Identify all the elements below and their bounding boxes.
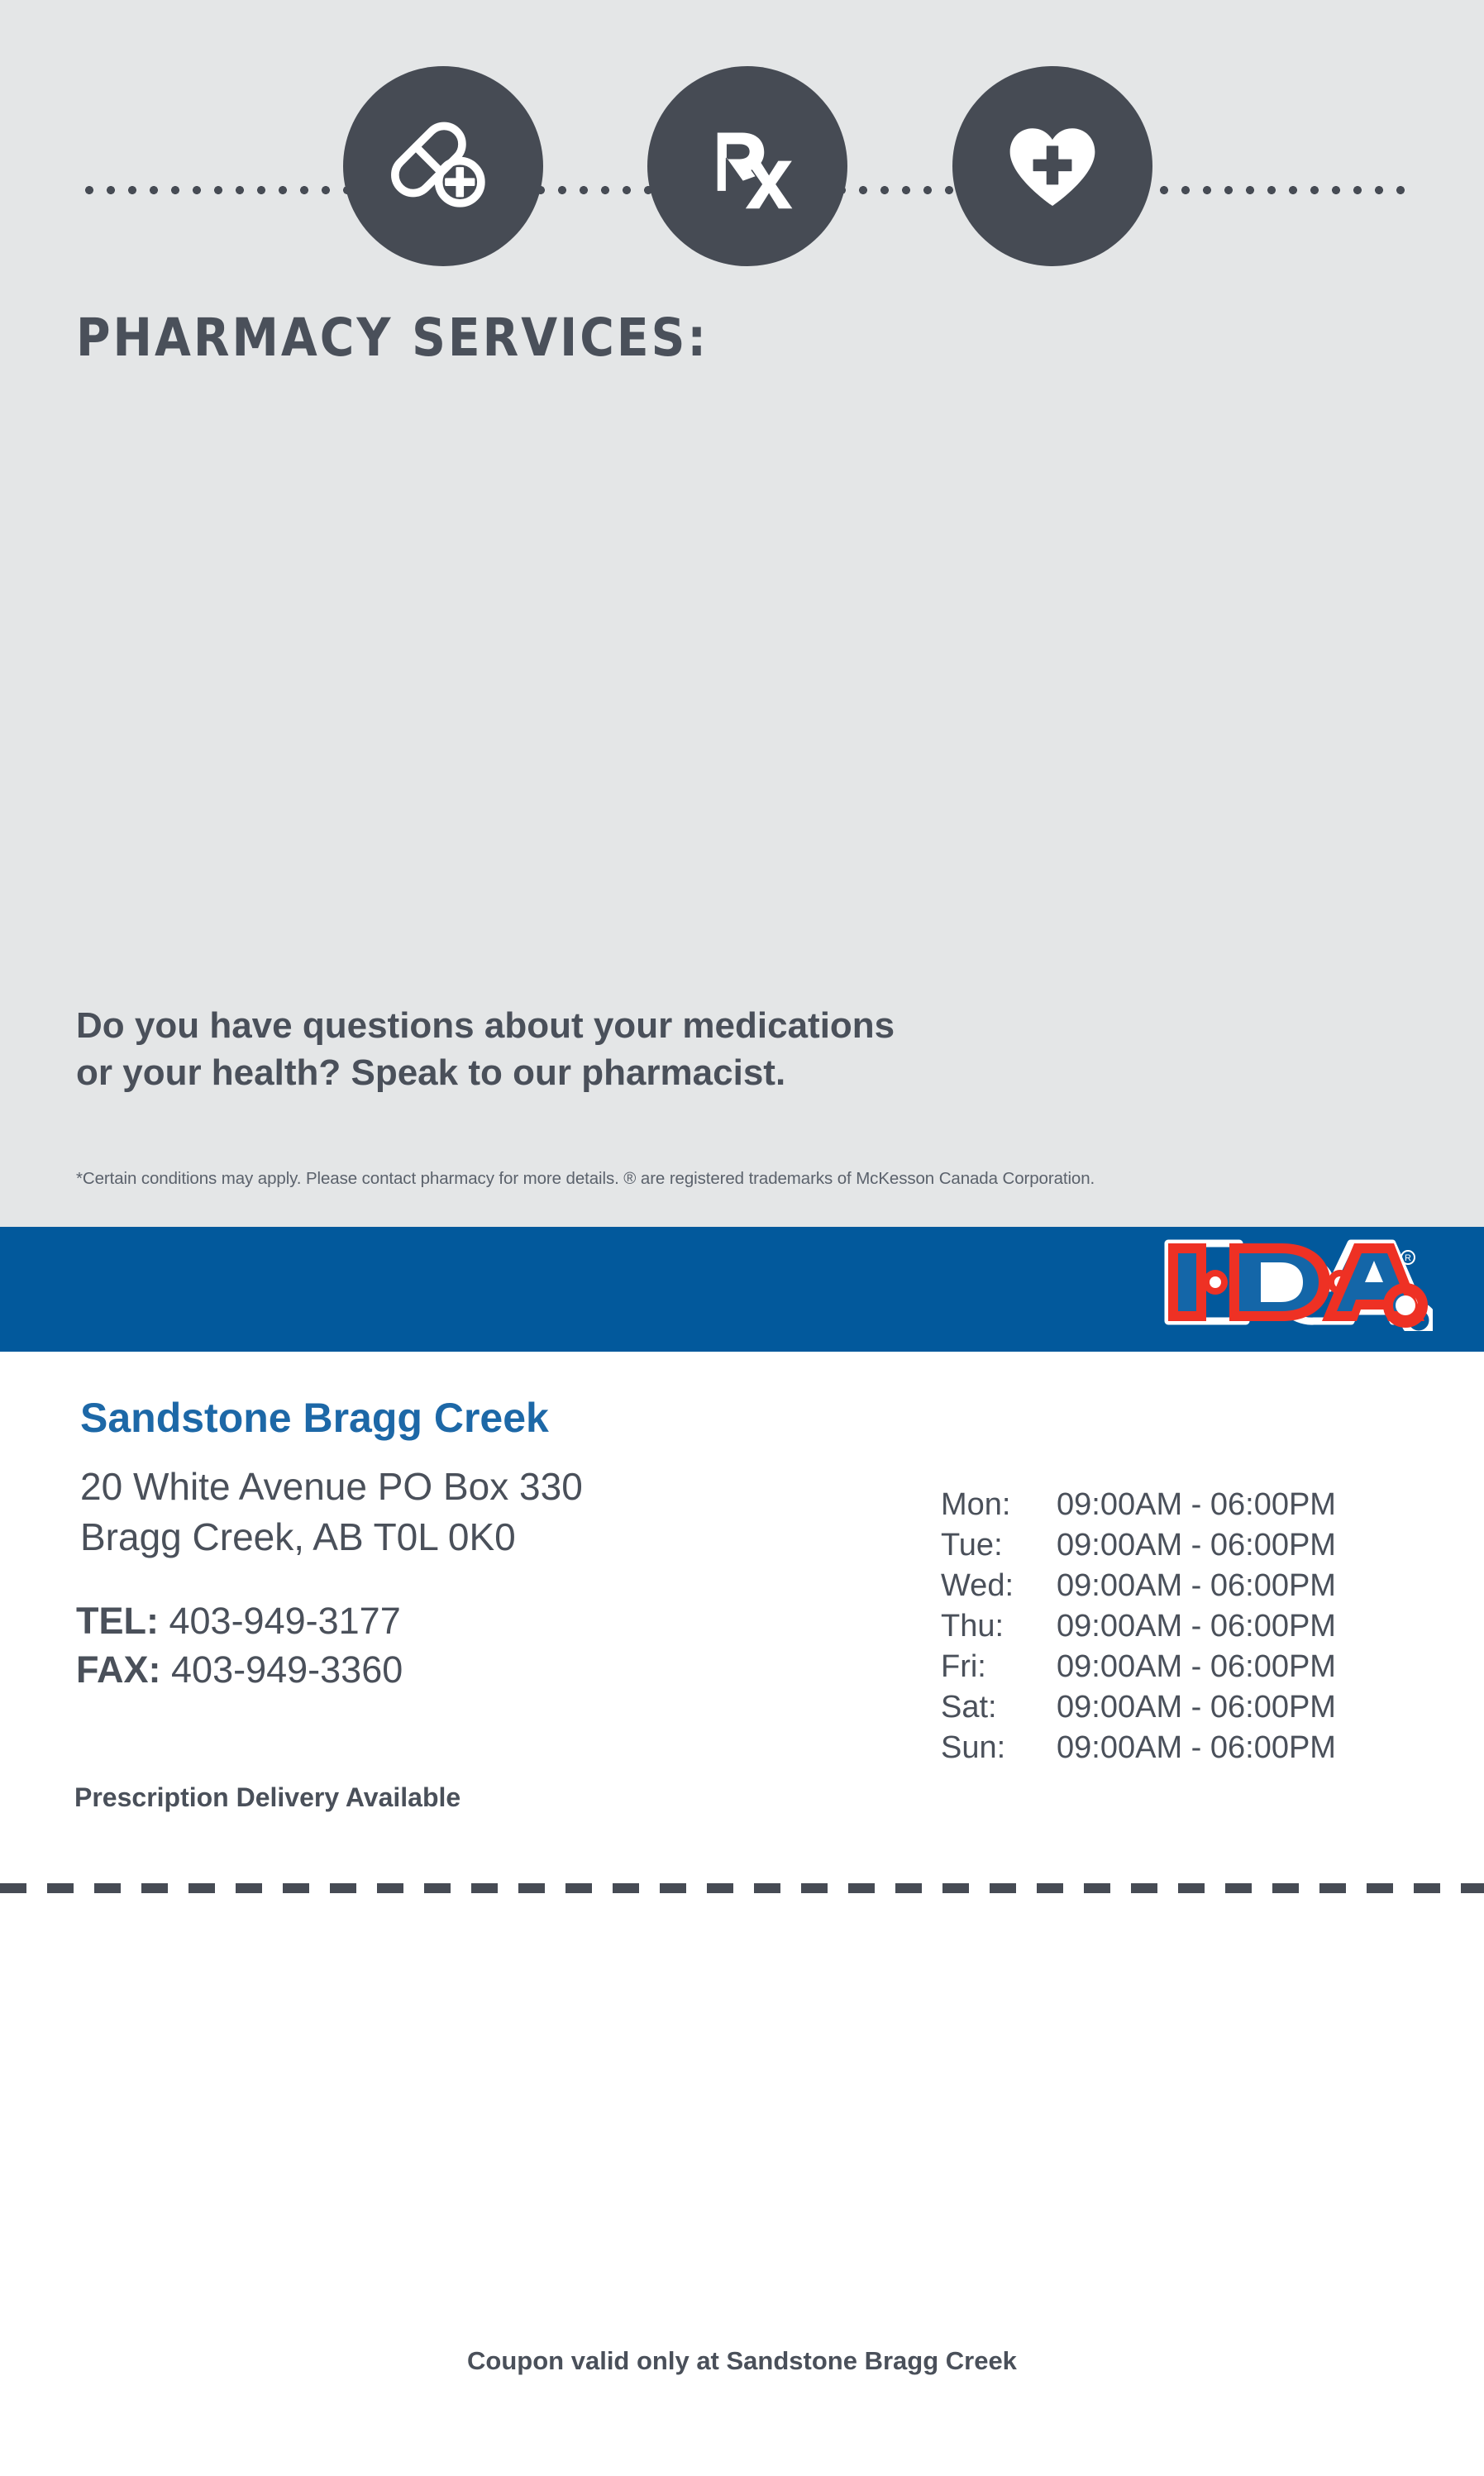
coupon-cut-line [0, 1883, 1484, 1893]
pharmacist-prompt-line-2: or your health? Speak to our pharmacist. [76, 1049, 1233, 1096]
delivery-note: Prescription Delivery Available [74, 1782, 460, 1813]
coupon-validity-note: Coupon valid only at Sandstone Bragg Cre… [0, 2346, 1484, 2376]
rx-icon [647, 66, 847, 266]
hours-day-label: Mon: [941, 1485, 1057, 1525]
address-line-2: Bragg Creek, AB T0L 0K0 [80, 1512, 583, 1562]
pills-plus-icon [343, 66, 543, 266]
services-list [76, 397, 1407, 926]
icon-row [343, 66, 1153, 266]
heart-plus-icon [952, 66, 1152, 266]
hours-day-label: Sun: [941, 1728, 1057, 1768]
hours-day-label: Sat: [941, 1687, 1057, 1728]
hours-row: Fri: 09:00AM - 06:00PM [941, 1647, 1336, 1687]
hours-row: Tue: 09:00AM - 06:00PM [941, 1525, 1336, 1566]
fax-row: FAX: 403-949-3360 [76, 1645, 403, 1694]
hours-day-label: Fri: [941, 1647, 1057, 1687]
page-title: PHARMACY SERVICES: [76, 308, 709, 368]
hours-row: Wed: 09:00AM - 06:00PM [941, 1566, 1336, 1606]
pharmacist-prompt-line-1: Do you have questions about your medicat… [76, 1002, 1233, 1049]
store-name: Sandstone Bragg Creek [80, 1394, 549, 1442]
coupon-area [0, 1893, 1484, 2476]
hours-time-value: 09:00AM - 06:00PM [1057, 1687, 1336, 1728]
telephone-value: 403-949-3177 [169, 1600, 400, 1642]
hours-time-value: 09:00AM - 06:00PM [1057, 1647, 1336, 1687]
hours-time-value: 09:00AM - 06:00PM [1057, 1728, 1336, 1768]
telephone-row: TEL: 403-949-3177 [76, 1596, 403, 1645]
hours-row: Thu: 09:00AM - 06:00PM [941, 1606, 1336, 1647]
hours-day-label: Tue: [941, 1525, 1057, 1566]
hours-time-value: 09:00AM - 06:00PM [1057, 1525, 1336, 1566]
store-contact: TEL: 403-949-3177 FAX: 403-949-3360 [76, 1596, 403, 1695]
pharmacist-prompt: Do you have questions about your medicat… [76, 1002, 1233, 1096]
telephone-label: TEL: [76, 1600, 169, 1642]
icon-strip [0, 37, 1484, 244]
hours-day-label: Thu: [941, 1606, 1057, 1647]
disclaimer-text: *Certain conditions may apply. Please co… [76, 1169, 1316, 1189]
hours-row: Sat: 09:00AM - 06:00PM [941, 1687, 1336, 1728]
hours-row: Mon: 09:00AM - 06:00PM [941, 1485, 1336, 1525]
store-address: 20 White Avenue PO Box 330 Bragg Creek, … [80, 1462, 583, 1562]
hours-day-label: Wed: [941, 1566, 1057, 1606]
pharmacy-flyer-page: PHARMACY SERVICES: Do you have questions… [0, 0, 1484, 2476]
svg-text:R: R [1405, 1253, 1411, 1263]
fax-value: 403-949-3360 [171, 1648, 403, 1691]
hours-time-value: 09:00AM - 06:00PM [1057, 1485, 1336, 1525]
fax-label: FAX: [76, 1648, 171, 1691]
address-line-1: 20 White Avenue PO Box 330 [80, 1462, 583, 1512]
hours-time-value: 09:00AM - 06:00PM [1057, 1606, 1336, 1647]
hours-time-value: 09:00AM - 06:00PM [1057, 1566, 1336, 1606]
hours-row: Sun: 09:00AM - 06:00PM [941, 1728, 1336, 1768]
store-hours-table: Mon: 09:00AM - 06:00PM Tue: 09:00AM - 06… [941, 1485, 1336, 1768]
ida-logo: R [1160, 1235, 1433, 1331]
